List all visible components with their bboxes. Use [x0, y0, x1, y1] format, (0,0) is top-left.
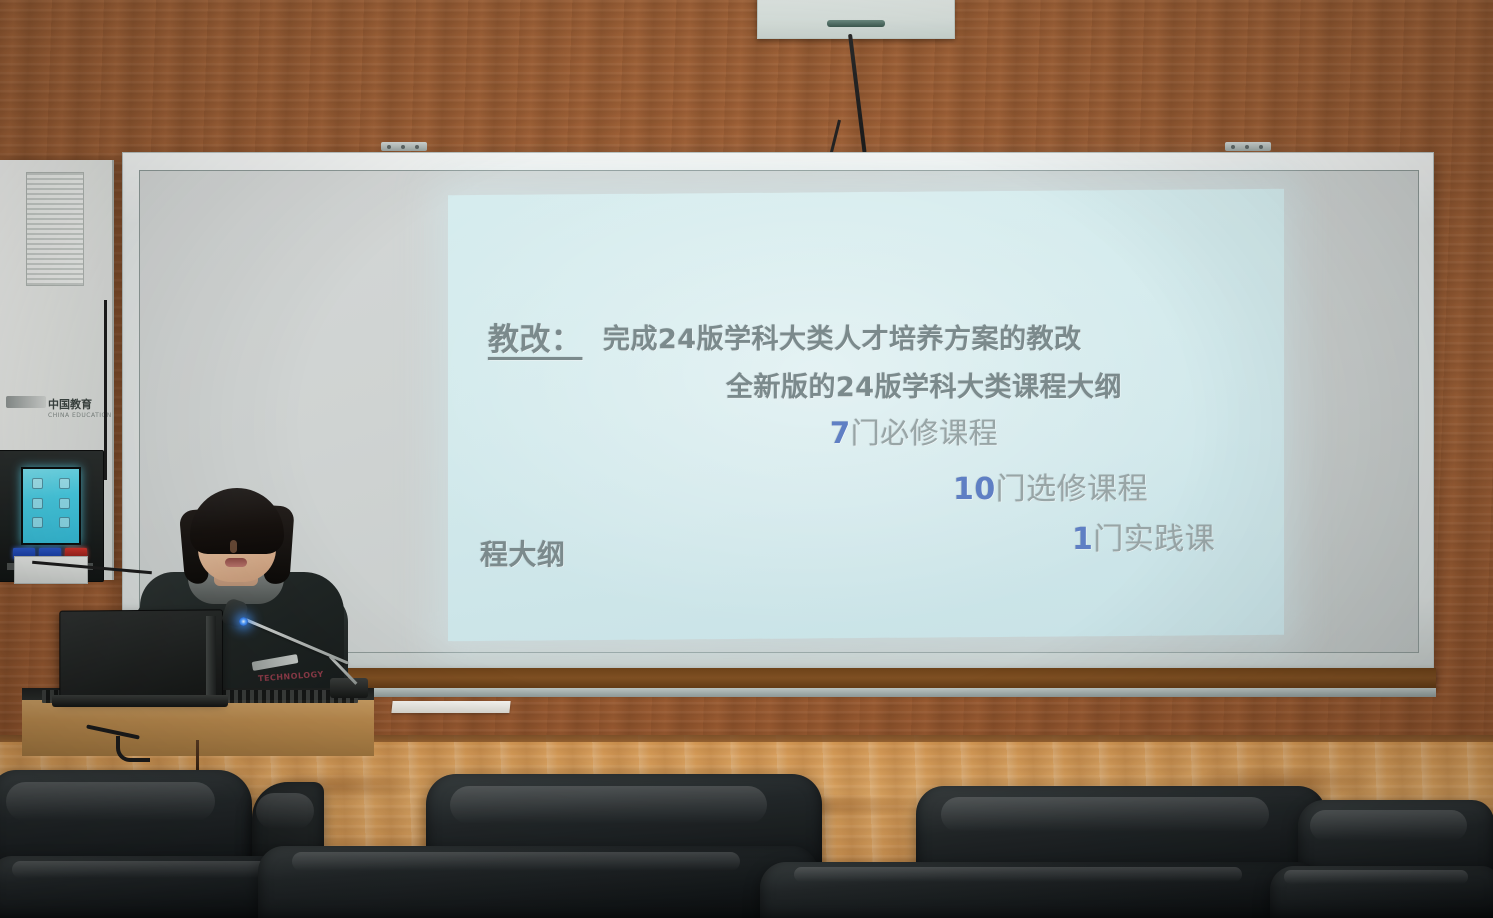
papers-on-ledge	[391, 701, 510, 713]
presenter-hair	[190, 488, 284, 554]
chair-seat	[258, 846, 818, 918]
cabinet-vent-grille	[26, 172, 84, 286]
projection-screen-area: 教改： 完成24版学科大类人才培养方案的教改 全新版的24版学科大类课程大纲 7…	[448, 189, 1284, 642]
whiteboard-bracket-left	[381, 142, 427, 151]
chair-seat	[760, 862, 1320, 918]
slide-line-1: 完成24版学科大类人才培养方案的教改	[603, 317, 1082, 356]
slide-line-3-number: 7	[830, 416, 851, 450]
lecture-hall-photo: 教改： 完成24版学科大类人才培养方案的教改 全新版的24版学科大类课程大纲 7…	[0, 0, 1493, 918]
whiteboard-bracket-right	[1225, 142, 1271, 151]
slide-line-5-text: 门实践课	[1093, 522, 1215, 557]
light-lens	[827, 20, 885, 27]
slide-heading: 教改：	[488, 314, 583, 359]
laptop-screen[interactable]	[59, 609, 223, 700]
cabinet-power-cord	[104, 300, 107, 480]
presenter-mouth	[225, 558, 247, 567]
slide-line-4: 10门选修课程	[953, 464, 1148, 508]
slide-line-5-number: 1	[1072, 522, 1093, 557]
laptop-base[interactable]	[52, 695, 228, 707]
control-panel-lcd[interactable]	[21, 467, 81, 545]
laptop-hinge	[206, 616, 216, 696]
ceiling-light-fixture	[757, 0, 955, 39]
cabinet-logo-icon	[6, 396, 46, 408]
slide-line-3: 7门必修课程	[830, 410, 998, 452]
equipment-cabinet: 中国教育 CHINA EDUCATION	[0, 160, 114, 580]
microphone-led-indicator	[239, 617, 248, 626]
slide-line-4-number: 10	[953, 472, 996, 507]
slide-line-4-text: 门选修课程	[996, 472, 1149, 507]
microphone-base	[330, 678, 368, 698]
cabinet-brand-label: 中国教育 CHINA EDUCATION	[48, 396, 148, 419]
presenter-nose	[230, 540, 237, 553]
slide-line-5: 1门实践课	[1072, 514, 1215, 558]
slide-content: 教改： 完成24版学科大类人才培养方案的教改 全新版的24版学科大类课程大纲 7…	[448, 192, 1284, 638]
slide-line-3-text: 门必修课程	[851, 416, 999, 450]
slide-line-6: 程大纲	[480, 533, 566, 573]
loose-cable-loop	[116, 736, 150, 762]
cabinet-brand-sublabel: CHINA EDUCATION	[48, 412, 148, 419]
chair-seat	[1270, 866, 1493, 918]
wall-outlet-plate	[14, 556, 88, 584]
slide-line-2: 全新版的24版学科大类课程大纲	[726, 365, 1122, 404]
